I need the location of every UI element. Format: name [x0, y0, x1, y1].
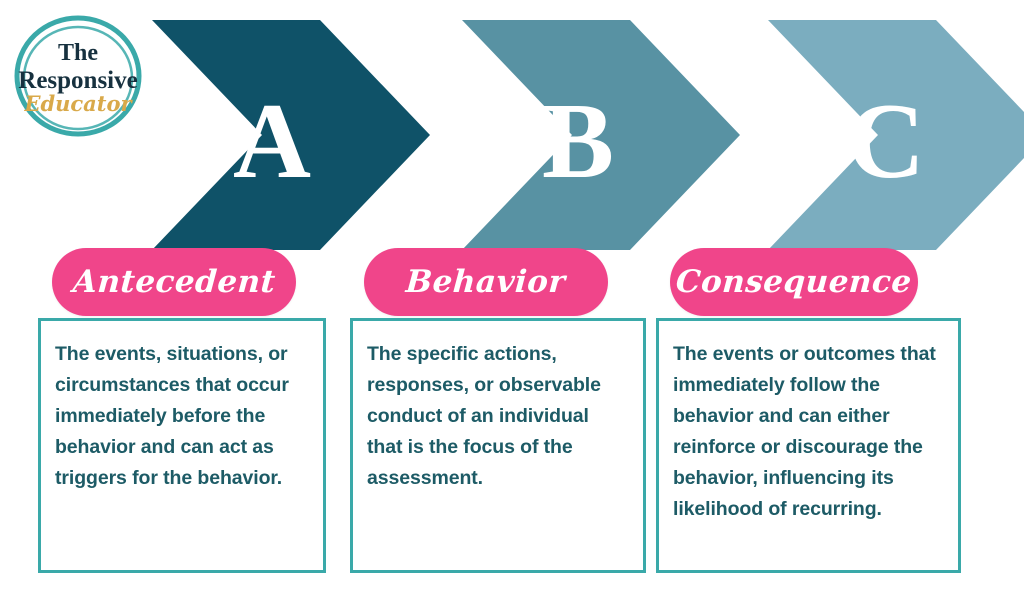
description-box-antecedent: The events, situations, or circumstances…	[38, 318, 326, 573]
chevron-letter-c: C	[847, 82, 925, 201]
badge-label-consequence: Consequence	[675, 264, 913, 300]
logo-script-word: Educator	[23, 91, 133, 116]
badge-label-antecedent: Antecedent	[71, 264, 276, 300]
badge-antecedent[interactable]: Antecedent	[52, 248, 296, 316]
brand-logo: The Responsive Educator	[8, 12, 148, 140]
badge-label-behavior: Behavior	[405, 264, 567, 300]
logo-line-1: The	[58, 40, 98, 66]
logo-line-2: Responsive	[18, 67, 137, 94]
abc-infographic: A B C The Responsive Educator The events…	[0, 0, 1024, 597]
badge-behavior[interactable]: Behavior	[364, 248, 608, 316]
description-box-behavior: The specific actions, responses, or obse…	[350, 318, 646, 573]
chevron-letter-b: B	[542, 82, 614, 201]
chevron-letter-a: A	[233, 82, 311, 201]
badge-consequence[interactable]: Consequence	[670, 248, 918, 316]
description-box-consequence: The events or outcomes that immediately …	[656, 318, 961, 573]
